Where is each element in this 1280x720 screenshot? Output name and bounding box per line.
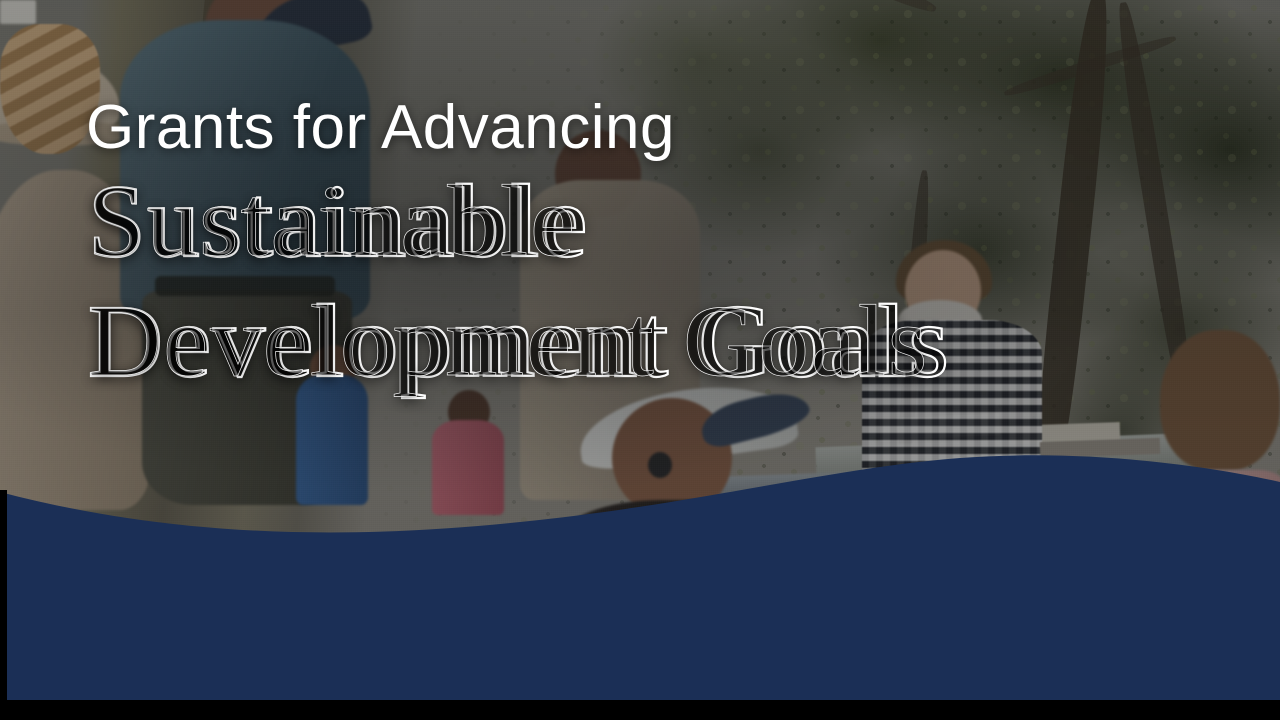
headline-line-advancing: Grants for Advancing bbox=[86, 92, 675, 163]
headline-line-development-goals: Development Goals bbox=[88, 290, 951, 394]
headline-line-sustainable: Sustainable bbox=[88, 170, 589, 274]
letterbox-bottom-bar bbox=[0, 700, 1280, 720]
presentation-slide: Grants for Advancing Sustainable Develop… bbox=[0, 0, 1280, 720]
partner-logo-row: UC DAVIS Global Affairs UC DAVIS Diversi… bbox=[0, 540, 1280, 670]
letterbox-left-bar bbox=[0, 490, 7, 720]
